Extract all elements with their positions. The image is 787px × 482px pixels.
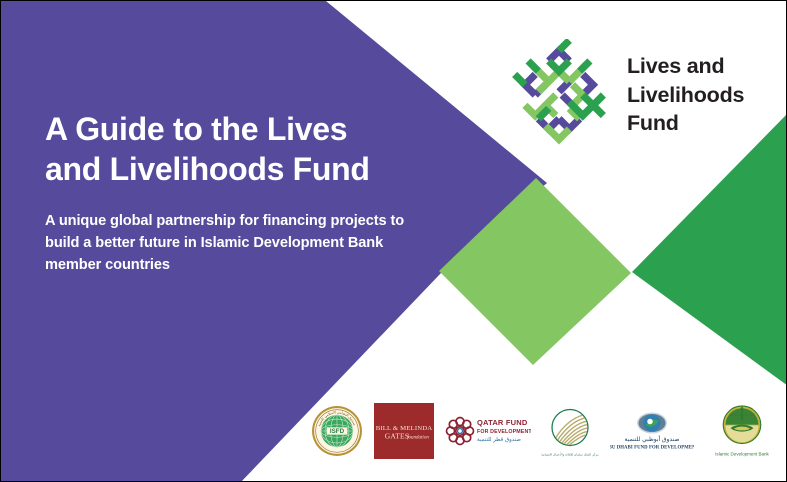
partner-logo-idb: البنك الاسلامي للتنمية Islamic Developme… bbox=[705, 401, 779, 461]
svg-text:مركز الملك سلمان للإغاثة والأع: مركز الملك سلمان للإغاثة والأعمال الإنسا… bbox=[542, 452, 600, 457]
page-title: A Guide to the Lives and Livelihoods Fun… bbox=[45, 109, 405, 190]
svg-text:البنك الاسلامي للتنمية: البنك الاسلامي للتنمية bbox=[729, 413, 754, 417]
partner-logo-adfd: صندوق أبوظبي للتنمية ABU DHABI FUND FOR … bbox=[610, 401, 694, 461]
partner-logo-isfd: ISFD صندوق التضامن الاسلامي للتنمية Isla… bbox=[311, 401, 363, 461]
ksrelief-globe-crescent-icon: مركز الملك سلمان للإغاثة والأعمال الإنسا… bbox=[541, 402, 599, 460]
partner-logo-ksrelief: مركز الملك سلمان للإغاثة والأعمال الإنسا… bbox=[541, 401, 599, 461]
brand-lockup: Lives and Livelihoods Fund bbox=[503, 39, 744, 151]
partner-logo-gates-foundation: BILL & MELINDA GATES foundation Bill & M… bbox=[374, 401, 434, 461]
adfd-line1: صندوق أبوظبي للتنمية bbox=[625, 434, 680, 443]
title-block: A Guide to the Lives and Livelihoods Fun… bbox=[45, 109, 405, 276]
gates-line3: foundation bbox=[407, 436, 429, 441]
qatar-line2: FOR DEVELOPMENT bbox=[477, 429, 531, 435]
qatar-line1: QATAR FUND bbox=[477, 418, 528, 427]
page-subtitle: A unique global partnership for financin… bbox=[45, 210, 405, 277]
idb-crest-icon: البنك الاسلامي للتنمية Islamic Developme… bbox=[705, 402, 779, 460]
partner-logo-strip: ISFD صندوق التضامن الاسلامي للتنمية Isla… bbox=[311, 399, 779, 463]
llf-knot-logo-icon bbox=[503, 39, 615, 151]
partner-logo-qatar-fund: QATAR FUND FOR DEVELOPMENT صندوق قطر للت… bbox=[445, 401, 531, 461]
qatar-fund-rosette-icon: QATAR FUND FOR DEVELOPMENT صندوق قطر للت… bbox=[445, 412, 531, 450]
gates-line1: BILL & MELINDA bbox=[376, 425, 433, 432]
gates-foundation-icon: BILL & MELINDA GATES foundation bbox=[374, 403, 434, 459]
adfd-globe-icon: صندوق أبوظبي للتنمية ABU DHABI FUND FOR … bbox=[610, 406, 694, 456]
brand-wordmark: Lives and Livelihoods Fund bbox=[627, 52, 744, 138]
isfd-globe-seal-icon: ISFD صندوق التضامن الاسلامي للتنمية bbox=[311, 405, 363, 457]
isfd-abbr-label: ISFD bbox=[330, 428, 345, 435]
idb-caption: Islamic Development Bank bbox=[715, 451, 769, 456]
gates-line2: GATES bbox=[385, 432, 410, 441]
adfd-line2: ABU DHABI FUND FOR DEVELOPMENT bbox=[610, 446, 694, 451]
qatar-line3: صندوق قطر للتنمية bbox=[477, 436, 521, 443]
cover-page: A Guide to the Lives and Livelihoods Fun… bbox=[0, 0, 787, 482]
